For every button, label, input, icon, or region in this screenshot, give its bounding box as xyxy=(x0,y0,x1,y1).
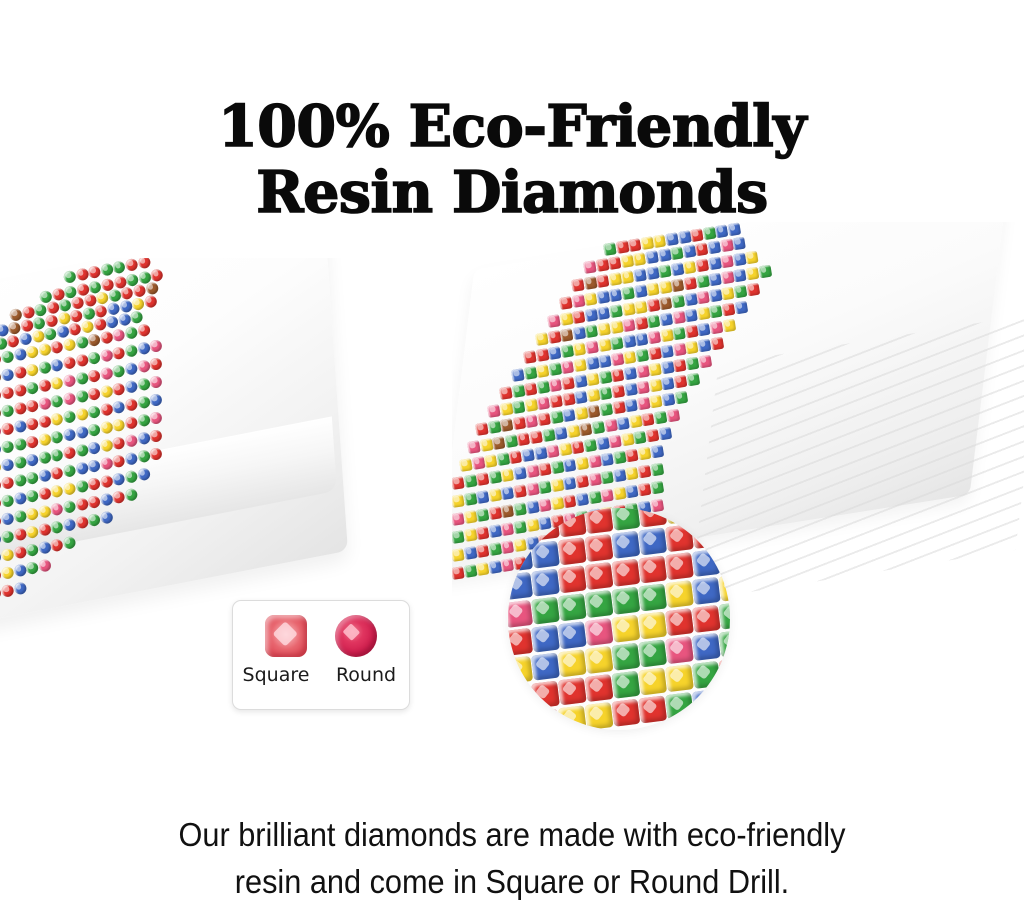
magnified-drill-bead xyxy=(508,628,533,656)
drill-bead xyxy=(558,442,572,456)
drill-bead xyxy=(638,483,652,497)
drill-bead xyxy=(710,337,724,351)
drill-bead xyxy=(38,451,52,465)
drill-bead xyxy=(459,458,473,472)
drill-bead xyxy=(661,361,675,375)
drill-bead xyxy=(112,490,126,504)
drill-bead xyxy=(511,384,525,398)
drill-bead xyxy=(600,453,614,467)
magnified-drill-bead xyxy=(585,674,614,702)
drill-bead xyxy=(50,520,64,534)
drill-bead xyxy=(87,441,101,455)
drill-bead xyxy=(63,270,77,284)
drill-bead xyxy=(75,389,89,403)
drill-bead xyxy=(50,412,64,426)
drill-bead xyxy=(143,295,157,309)
drill-bead xyxy=(648,363,662,377)
drill-bead xyxy=(13,437,27,451)
magnified-drill-bead xyxy=(508,516,533,544)
magnified-drill-bead xyxy=(692,605,721,633)
drill-bead xyxy=(548,362,562,376)
drill-bead xyxy=(476,544,490,558)
drill-bead xyxy=(574,374,588,388)
square-gem-icon xyxy=(265,615,307,657)
drill-bead xyxy=(99,385,113,399)
drill-bead xyxy=(38,415,52,429)
drill-bead xyxy=(682,244,696,258)
drill-bead xyxy=(538,480,552,494)
drill-bead xyxy=(50,394,64,408)
magnified-drill-bead xyxy=(719,546,730,574)
drill-bead xyxy=(511,368,525,382)
drill-bead xyxy=(501,486,515,500)
magnified-drill-bead xyxy=(611,508,640,531)
magnifier-closeup xyxy=(508,508,730,730)
drill-bead xyxy=(598,370,612,384)
drill-bead xyxy=(646,266,660,280)
drill-bead xyxy=(613,451,627,465)
drill-bead xyxy=(13,563,27,577)
drill-bead xyxy=(588,491,602,505)
round-gem-icon xyxy=(335,615,377,657)
drill-bead xyxy=(722,303,736,317)
magnified-drill-bead xyxy=(558,509,587,537)
drill-bead xyxy=(504,434,518,448)
drill-bead xyxy=(105,315,119,329)
drill-bead xyxy=(1,476,15,490)
drill-bead xyxy=(137,449,151,463)
drill-bead xyxy=(512,416,526,430)
drill-bead xyxy=(548,346,562,360)
drill-bead xyxy=(149,375,163,389)
drill-bead xyxy=(124,344,138,358)
drill-bead xyxy=(686,373,700,387)
drill-bead xyxy=(571,440,585,454)
drill-bead xyxy=(583,260,597,274)
drill-bead xyxy=(710,321,724,335)
drill-bead xyxy=(56,325,70,339)
drill-bead xyxy=(685,325,699,339)
drill-bead xyxy=(598,354,612,368)
drill-bead xyxy=(684,309,698,323)
drill-bead xyxy=(25,471,39,485)
drill-bead xyxy=(611,385,625,399)
drill-bead xyxy=(534,446,548,460)
drill-bead xyxy=(117,313,131,327)
drill-bead xyxy=(75,443,89,457)
drill-bead xyxy=(25,435,39,449)
drill-bead xyxy=(1,512,15,526)
magnified-drill-bead xyxy=(719,518,730,546)
drill-bead xyxy=(634,316,648,330)
drill-bead xyxy=(733,253,747,267)
drill-bead xyxy=(591,421,605,435)
drill-bead xyxy=(125,258,139,272)
drill-bead xyxy=(99,457,113,471)
drill-bead xyxy=(62,356,76,370)
drill-bead xyxy=(621,286,635,300)
drill-bead xyxy=(658,248,672,262)
magnified-drill-bead xyxy=(585,534,614,562)
magnified-drill-bead xyxy=(638,555,667,583)
drill-bead xyxy=(650,463,664,477)
drill-bead xyxy=(758,265,772,279)
drill-bead xyxy=(535,348,549,362)
drill-bead xyxy=(487,404,501,418)
drill-bead xyxy=(25,507,39,521)
drill-bead xyxy=(112,346,126,360)
magnified-drill-bead xyxy=(558,537,587,565)
drill-bead xyxy=(659,296,673,310)
drill-bead xyxy=(112,400,126,414)
magnified-drill-bead xyxy=(558,565,587,593)
drill-bead xyxy=(671,278,685,292)
drill-bead xyxy=(509,450,523,464)
drill-bead xyxy=(745,251,759,265)
drill-bead xyxy=(463,564,477,578)
drill-bead xyxy=(604,419,618,433)
magnified-drill-bead xyxy=(719,574,730,602)
drill-bead xyxy=(523,350,537,364)
drill-bead xyxy=(13,455,27,469)
drill-bead xyxy=(685,341,699,355)
drill-bead xyxy=(654,411,668,425)
drill-bead xyxy=(50,502,64,516)
drill-bead xyxy=(75,497,89,511)
drill-bead xyxy=(499,402,513,416)
drill-bead xyxy=(99,349,113,363)
drill-bead xyxy=(99,493,113,507)
drill-bead xyxy=(597,306,611,320)
magnified-drill-bead xyxy=(665,508,694,524)
drill-bead xyxy=(634,300,648,314)
drill-bead xyxy=(734,301,748,315)
drill-bead xyxy=(560,344,574,358)
drill-bead xyxy=(499,386,513,400)
drill-bead xyxy=(598,338,612,352)
magnified-drill-bead xyxy=(638,508,667,527)
drill-bead xyxy=(746,283,760,297)
magnified-drill-bead xyxy=(531,569,560,597)
drill-bead xyxy=(547,314,561,328)
magnified-drill-bead xyxy=(611,559,640,587)
magnified-drill-bead xyxy=(508,544,533,572)
drill-bead xyxy=(613,469,627,483)
drill-bead xyxy=(517,432,531,446)
drill-bead xyxy=(550,460,564,474)
drill-bead xyxy=(579,422,593,436)
magnified-drill-bead xyxy=(692,577,721,605)
drill-bead xyxy=(62,428,76,442)
drill-bead xyxy=(722,319,736,333)
drill-bead xyxy=(709,305,723,319)
drill-bead xyxy=(559,312,573,326)
drill-bead xyxy=(573,358,587,372)
drill-bead xyxy=(463,528,477,542)
drill-bead xyxy=(25,345,39,359)
drill-bead xyxy=(87,333,101,347)
drill-bead xyxy=(560,328,574,342)
gem-labels: Square Round xyxy=(233,664,409,686)
drill-bead xyxy=(471,456,485,470)
magnified-drill-bead xyxy=(585,618,614,646)
drill-bead xyxy=(452,548,465,562)
drill-bead xyxy=(575,475,589,489)
drill-bead xyxy=(13,491,27,505)
drill-bead xyxy=(487,420,501,434)
drill-bead xyxy=(671,295,685,309)
drill-bead xyxy=(62,500,76,514)
drill-bead xyxy=(137,395,151,409)
drill-bead xyxy=(636,381,650,395)
drill-bead xyxy=(488,524,502,538)
drill-bead xyxy=(87,513,101,527)
drill-bead xyxy=(624,383,638,397)
drill-bead xyxy=(625,467,639,481)
drill-bead xyxy=(721,271,735,285)
drill-bead xyxy=(673,359,687,373)
drill-bead xyxy=(670,246,684,260)
drill-bead xyxy=(645,250,659,264)
drill-bead xyxy=(149,357,163,371)
drill-bead xyxy=(484,454,498,468)
drill-bead xyxy=(550,496,564,510)
drill-bead xyxy=(588,473,602,487)
magnified-drill-bead xyxy=(585,508,614,534)
round-drill-tray xyxy=(0,258,380,644)
drill-bead xyxy=(501,468,515,482)
drill-bead xyxy=(62,518,76,532)
drill-bead xyxy=(638,447,652,461)
drill-bead xyxy=(149,447,163,461)
drill-bead xyxy=(25,525,39,539)
drill-bead xyxy=(31,329,45,343)
headline-line-1: 100% Eco-Friendly xyxy=(218,93,806,160)
drill-bead xyxy=(636,365,650,379)
magnified-drill-bead xyxy=(665,608,694,636)
drill-bead xyxy=(1,530,15,544)
drill-bead xyxy=(99,439,113,453)
drill-bead xyxy=(596,437,610,451)
magnified-drill-bead xyxy=(531,513,560,541)
drill-bead xyxy=(623,367,637,381)
drill-bead xyxy=(112,418,126,432)
drill-bead xyxy=(38,559,52,573)
drill-bead xyxy=(720,255,734,269)
page-title: 100% Eco-Friendly Resin Diamonds xyxy=(0,94,1024,226)
drill-bead xyxy=(137,467,151,481)
drill-bead xyxy=(38,433,52,447)
drill-bead xyxy=(583,439,597,453)
drill-bead xyxy=(549,394,563,408)
drill-bead xyxy=(13,473,27,487)
drill-bead xyxy=(588,455,602,469)
drill-bead xyxy=(609,304,623,318)
drill-bead xyxy=(600,471,614,485)
magnified-drill-bead xyxy=(692,521,721,549)
drill-bead xyxy=(629,415,643,429)
drill-bead xyxy=(500,418,514,432)
drill-bead xyxy=(660,345,674,359)
drill-bead xyxy=(690,228,704,242)
drill-bead xyxy=(25,399,39,413)
drill-bead xyxy=(647,314,661,328)
drill-bead xyxy=(674,391,688,405)
drill-bead xyxy=(621,270,635,284)
drill-bead xyxy=(463,474,477,488)
drill-bead xyxy=(633,252,647,266)
drill-bead xyxy=(661,377,675,391)
drill-bead xyxy=(124,398,138,412)
drill-bead xyxy=(684,293,698,307)
drill-bead xyxy=(521,448,535,462)
drill-bead xyxy=(550,410,564,424)
magnified-drill-bead xyxy=(638,667,667,695)
drill-bead xyxy=(586,356,600,370)
drill-bead xyxy=(571,294,585,308)
magnified-drill-bead xyxy=(611,531,640,559)
drill-bead xyxy=(488,560,502,574)
drill-bead xyxy=(524,382,538,396)
gem-swatches xyxy=(233,615,409,657)
drill-bead xyxy=(137,341,151,355)
drill-bead xyxy=(698,339,712,353)
magnified-drill-bead xyxy=(558,621,587,649)
drill-bead xyxy=(571,278,585,292)
drill-bead xyxy=(476,508,490,522)
drill-bead xyxy=(75,515,89,529)
drill-bead xyxy=(99,331,113,345)
magnified-drill-bead xyxy=(558,677,587,705)
drill-bead xyxy=(698,355,712,369)
drill-bead xyxy=(149,339,163,353)
drill-bead xyxy=(584,292,598,306)
drill-bead xyxy=(600,489,614,503)
drill-bead xyxy=(574,406,588,420)
drill-bead xyxy=(124,326,138,340)
drill-bead xyxy=(549,378,563,392)
drill-bead xyxy=(608,435,622,449)
drill-bead xyxy=(62,374,76,388)
drill-bead xyxy=(599,386,613,400)
drill-bead xyxy=(87,351,101,365)
drill-bead xyxy=(513,466,527,480)
drill-bead xyxy=(87,387,101,401)
drill-bead xyxy=(463,510,477,524)
drill-bead xyxy=(696,291,710,305)
drill-bead xyxy=(38,541,52,555)
magnified-drill-bead xyxy=(585,562,614,590)
drill-bead xyxy=(149,393,163,407)
drill-bead xyxy=(721,287,735,301)
magnified-drill-bead xyxy=(531,541,560,569)
magnified-drill-bead xyxy=(531,625,560,653)
drill-bead xyxy=(573,342,587,356)
drill-bead xyxy=(537,396,551,410)
drill-bead xyxy=(137,413,151,427)
drill-bead xyxy=(695,259,709,273)
drill-bead xyxy=(99,511,113,525)
drill-bead xyxy=(512,400,526,414)
drill-bead xyxy=(50,358,64,372)
drill-bead xyxy=(62,410,76,424)
drill-bead xyxy=(1,404,15,418)
magnified-drill-bead xyxy=(719,630,730,658)
drill-bead xyxy=(659,313,673,327)
drill-bead xyxy=(537,412,551,426)
magnified-drill-bead xyxy=(665,636,694,664)
drill-bead xyxy=(633,268,647,282)
magnified-drill-bead xyxy=(665,692,694,720)
drill-bead xyxy=(496,452,510,466)
drill-bead xyxy=(622,334,636,348)
drill-bead xyxy=(62,338,76,352)
drill-bead xyxy=(124,488,138,502)
drill-bead xyxy=(746,267,760,281)
drill-bead xyxy=(622,318,636,332)
drill-bead xyxy=(488,470,502,484)
drill-bead xyxy=(678,230,692,244)
drill-bead xyxy=(137,359,151,373)
magnified-drill-bead xyxy=(508,684,533,712)
magnified-drill-bead xyxy=(585,646,614,674)
drill-bead xyxy=(599,403,613,417)
drill-bead xyxy=(452,512,465,526)
drill-bead xyxy=(650,481,664,495)
magnified-drill-bead xyxy=(665,524,694,552)
drill-bead xyxy=(100,263,114,277)
drill-bead xyxy=(112,364,126,378)
drill-bead xyxy=(658,280,672,294)
drill-bead xyxy=(523,366,537,380)
drill-bead xyxy=(13,581,27,595)
caption-line-2: resin and come in Square or Round Drill. xyxy=(36,858,988,905)
drill-bead xyxy=(99,475,113,489)
drill-bead xyxy=(1,566,15,580)
magnified-drill-bead xyxy=(638,695,667,723)
round-label: Round xyxy=(329,664,403,686)
drill-bead xyxy=(463,546,477,560)
drill-bead xyxy=(452,566,465,580)
drill-bead xyxy=(672,327,686,341)
promo-banner: 100% Eco-Friendly Resin Diamonds Square … xyxy=(0,0,1024,923)
drill-bead xyxy=(621,433,635,447)
drill-bead xyxy=(658,264,672,278)
drill-bead xyxy=(596,274,610,288)
drill-bead xyxy=(467,440,481,454)
drill-bead xyxy=(615,240,629,254)
drill-bead xyxy=(624,399,638,413)
drill-bead xyxy=(124,416,138,430)
drill-bead xyxy=(513,502,527,516)
drill-bead xyxy=(660,329,674,343)
drill-bead xyxy=(646,282,660,296)
magnified-drill-bead xyxy=(665,664,694,692)
drill-bead xyxy=(727,223,741,237)
magnified-drill-bead xyxy=(719,686,730,714)
drill-bead xyxy=(99,367,113,381)
drill-bead xyxy=(674,375,688,389)
magnified-drill-bead xyxy=(508,600,533,628)
drill-bead xyxy=(145,281,159,295)
magnified-drill-bead xyxy=(508,572,533,600)
drill-bead xyxy=(75,335,89,349)
drill-bead xyxy=(112,454,126,468)
drill-bead xyxy=(25,561,39,575)
drill-bead xyxy=(732,237,746,251)
drill-bead xyxy=(476,562,490,576)
drill-bead xyxy=(554,426,568,440)
